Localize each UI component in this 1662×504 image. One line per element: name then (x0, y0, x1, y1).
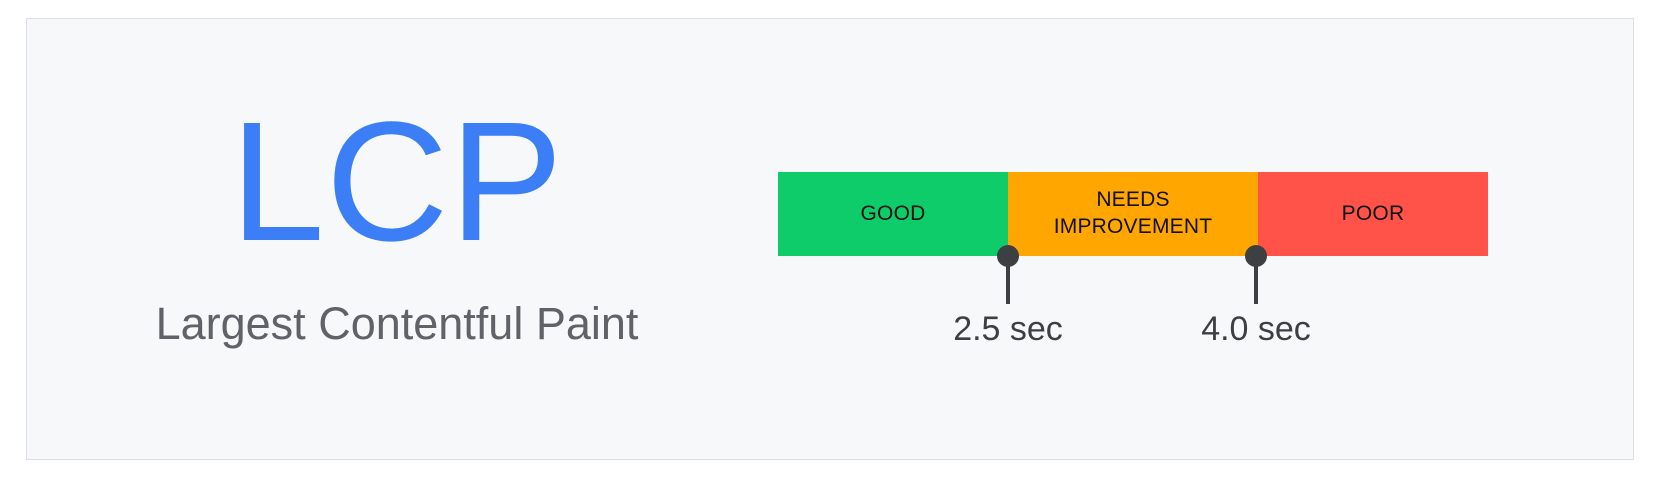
threshold-scale: GOOD NEEDS IMPROVEMENT POOR 2.5 sec 4.0 (778, 172, 1488, 256)
metric-identity-block: LCP Largest Contentful Paint (117, 104, 677, 350)
lcp-threshold-infographic: LCP Largest Contentful Paint GOOD NEEDS … (0, 0, 1662, 504)
segment-needs-improvement-label: NEEDS IMPROVEMENT (1054, 187, 1213, 241)
metric-abbreviation: LCP (117, 104, 677, 260)
metric-full-name: Largest Contentful Paint (117, 298, 677, 350)
threshold-label-4-0-sec: 4.0 sec (1161, 310, 1351, 349)
pin-stem-icon (1254, 256, 1258, 304)
segment-poor: POOR (1258, 172, 1488, 256)
segment-needs-improvement: NEEDS IMPROVEMENT (1008, 172, 1258, 256)
threshold-label-2-5-sec: 2.5 sec (913, 310, 1103, 349)
infographic-card: LCP Largest Contentful Paint GOOD NEEDS … (26, 18, 1634, 460)
threshold-segments: GOOD NEEDS IMPROVEMENT POOR (778, 172, 1488, 256)
segment-good-label: GOOD (861, 201, 926, 228)
pin-stem-icon (1006, 256, 1010, 304)
segment-good: GOOD (778, 172, 1008, 256)
segment-poor-label: POOR (1342, 201, 1405, 228)
